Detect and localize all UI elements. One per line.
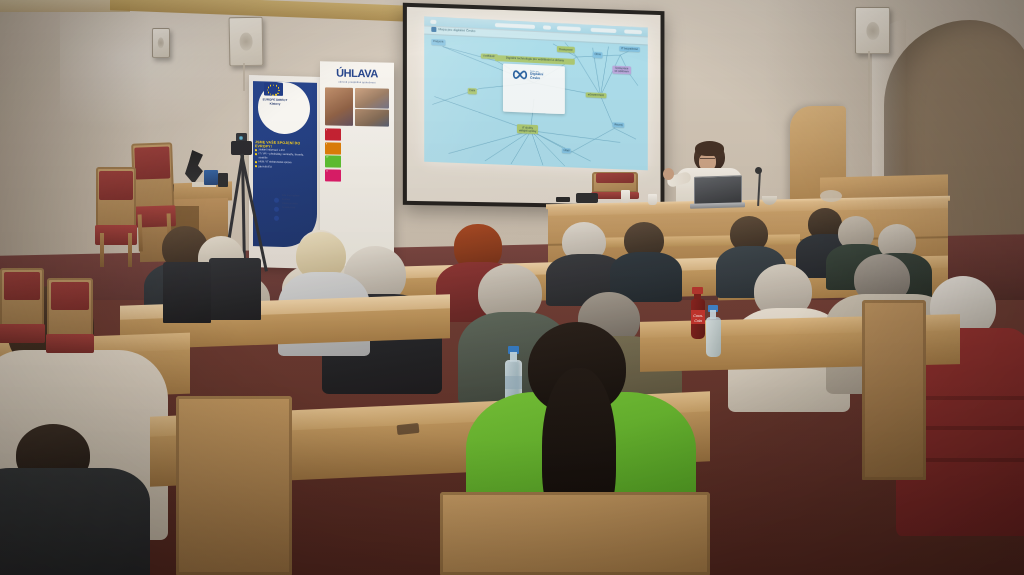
presenter-hand [663,168,674,180]
empty-chair[interactable] [96,167,136,267]
attendee-back-dark-1 [618,222,676,288]
empty-chair[interactable] [209,258,261,358]
sdg-tile: 4 [325,128,341,140]
equipment-on-desk [556,197,570,202]
banner-footer: Kde nás najdete: Kontakt Otevírací doba … [282,194,316,210]
logo-wordmark: Česko pro Digitální Česko [530,70,543,81]
mindmap-node-spoluprace[interactable]: Spolupráce se sektorem [613,65,631,74]
banner-photo [355,109,389,127]
microphone-icon [755,167,762,174]
europe-direct-label: EUROPE DIRECT Klatovy [255,98,295,107]
banner-photo [325,87,353,126]
list-item: jak řešit EU [255,165,311,170]
clock-icon [274,207,279,212]
conference-room-photo: Mapa pro digitální Česko [0,0,1024,575]
water-bottle-mid [706,317,721,357]
cola-bottle-cap [692,287,703,294]
mindmap-node-podpora[interactable]: Podpora [431,39,445,45]
sdg-tile: 8 [325,142,341,154]
digitalni-cesko-logo: Česko pro Digitální Česko [512,69,543,81]
speaker-cable [243,63,245,91]
cola-label-text: Coca-Cola [691,313,705,323]
uhlava-subtitle: obecně prospěšná společnost [325,80,389,84]
mindmap-node-data[interactable]: Data [467,88,477,94]
center-card-body-text [507,83,561,85]
mindmap-canvas[interactable]: Podpora Vzdělávání Data Dostupnost Obce … [424,34,648,171]
sdg-number: 11 [326,170,328,172]
mindmap-node-it-sluzby[interactable]: IT služby veřejné správy [517,125,538,134]
sdg-tile: 11 [325,169,341,181]
equipment-on-desk [576,193,598,203]
infinity-logo-icon [512,69,528,81]
sdg-number: 4 [326,129,327,131]
camera-lens-icon [239,136,243,140]
sdg-tile: 10 [325,155,341,167]
chair-front-left[interactable] [176,396,292,575]
mindmap-node-urad[interactable]: Úřad [562,148,572,154]
eu-flag-icon [264,82,283,96]
mindmap-node-rozvoj[interactable]: Rozvoj [613,122,625,128]
empty-chair[interactable] [0,268,44,364]
banner-bullet-list: získání informací o EU IT / VR – přednáš… [255,148,311,170]
wall-speaker-small-icon [152,28,170,58]
equipment-box-icon [218,173,228,187]
mindmap-center-card[interactable]: Česko pro Digitální Česko [503,63,565,114]
chair-right-side[interactable] [862,300,926,480]
wall-speaker-right-icon [855,7,890,54]
empty-chair[interactable] [163,262,211,360]
uhlava-title: ÚHLAVA [325,67,389,80]
attendee-dark-jacket-left [0,424,140,575]
presenter-glasses-icon [700,158,715,163]
chair-front-row[interactable] [440,492,710,575]
logo-line-2: Česko [530,76,543,81]
app-logo-icon [431,27,436,32]
speaker-cable-right [868,51,870,156]
equipment-box-icon [204,170,218,185]
equipment-on-desk [820,190,842,202]
bullet-text: jak řešit EU [259,165,272,169]
sdg-tile-group: 4 8 10 11 [325,128,341,182]
paper-cup [621,190,630,203]
sdg-number: 10 [326,156,328,158]
empty-chair[interactable] [47,278,93,374]
projected-slide: Mapa pro digitální Česko [424,16,648,170]
banner-photo [355,88,389,109]
paper-cup [648,194,657,205]
mindmap-node-dostupnost[interactable]: Dostupnost [557,46,574,52]
sdg-number: 8 [326,143,327,145]
presenter-hair [695,141,724,156]
presenter-chair[interactable] [592,172,638,206]
wall-speaker-left-icon [229,17,264,67]
banner-body-text [344,129,389,130]
social-icon [274,216,279,221]
contact-icon [274,198,279,203]
mindmap-node-obce[interactable]: Obce [593,52,603,58]
mindmap-node-it-bezpecnost[interactable]: IT bezpečnost [619,46,639,52]
